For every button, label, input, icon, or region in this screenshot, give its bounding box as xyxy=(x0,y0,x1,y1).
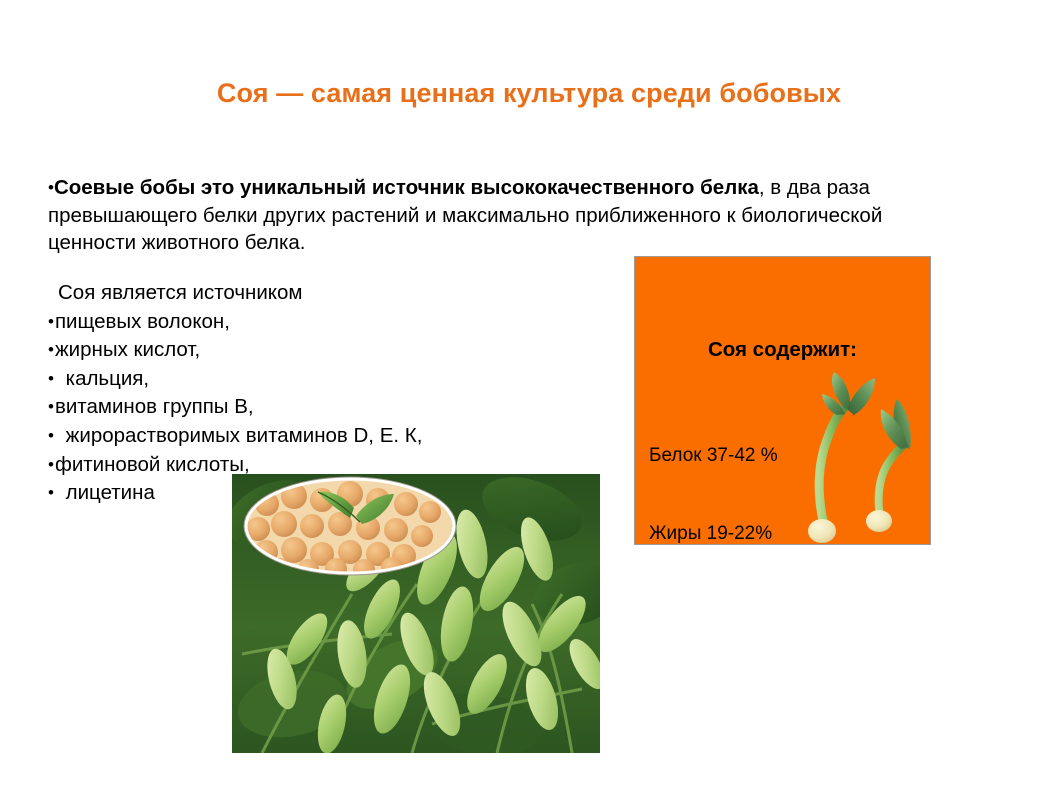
bullet-icon: • xyxy=(48,397,54,416)
list-item: •жирных кислот, xyxy=(48,336,568,365)
list-lead-text: Соя является источником xyxy=(58,279,568,308)
list-item-label: витаминов группы В, xyxy=(55,395,254,418)
bullet-icon: • xyxy=(48,369,54,388)
intro-bold-text: Соевые бобы это уникальный источник высо… xyxy=(54,176,759,199)
sprout-stem-right xyxy=(879,445,904,517)
stat-protein: Белок 37-42 % xyxy=(649,443,782,469)
soy-sprout-illustration xyxy=(787,365,927,543)
list-item: •пищевых волокон, xyxy=(48,308,568,337)
bullet-icon: • xyxy=(48,312,54,331)
list-item-label: кальция, xyxy=(60,367,149,390)
stat-fats: Жиры 19-22% xyxy=(649,521,782,545)
list-item: •витаминов группы В, xyxy=(48,393,568,422)
page-title: Соя — самая ценная культура среди бобовы… xyxy=(0,78,1058,109)
composition-stats-list: Белок 37-42 % Жиры 19-22% Углеводы 30% xyxy=(649,391,782,545)
sprout-seed-left xyxy=(808,519,836,543)
list-item-label: пищевых волокон, xyxy=(55,310,230,333)
list-item-label: жирорастворимых витаминов D, Е. К, xyxy=(60,424,422,447)
soybean-field-photo xyxy=(232,474,600,753)
presentation-slide: Соя — самая ценная культура среди бобовы… xyxy=(0,0,1058,794)
list-item-label: жирных кислот, xyxy=(55,338,200,361)
bullet-icon: • xyxy=(48,483,54,502)
list-item: • кальция, xyxy=(48,365,568,394)
sprout-seed-right xyxy=(866,510,892,532)
soy-composition-panel: Соя содержит: Белок 37-42 % Жиры 19-22% … xyxy=(634,256,931,545)
sprout-leaf-left-b xyxy=(847,378,875,415)
list-item-label: фитиновой кислоты, xyxy=(55,453,250,476)
intro-paragraph: •Соевые бобы это уникальный источник выс… xyxy=(48,174,953,257)
bullet-icon: • xyxy=(48,426,54,445)
bullet-icon: • xyxy=(48,455,54,474)
sprout-stem-left xyxy=(819,407,845,525)
list-item: • жирорастворимых витаминов D, Е. К, xyxy=(48,422,568,451)
bullet-icon: • xyxy=(48,340,54,359)
intro-text-block: •Соевые бобы это уникальный источник выс… xyxy=(48,174,958,257)
list-item-label: лицетина xyxy=(60,481,155,504)
info-panel-title: Соя содержит: xyxy=(635,338,930,362)
